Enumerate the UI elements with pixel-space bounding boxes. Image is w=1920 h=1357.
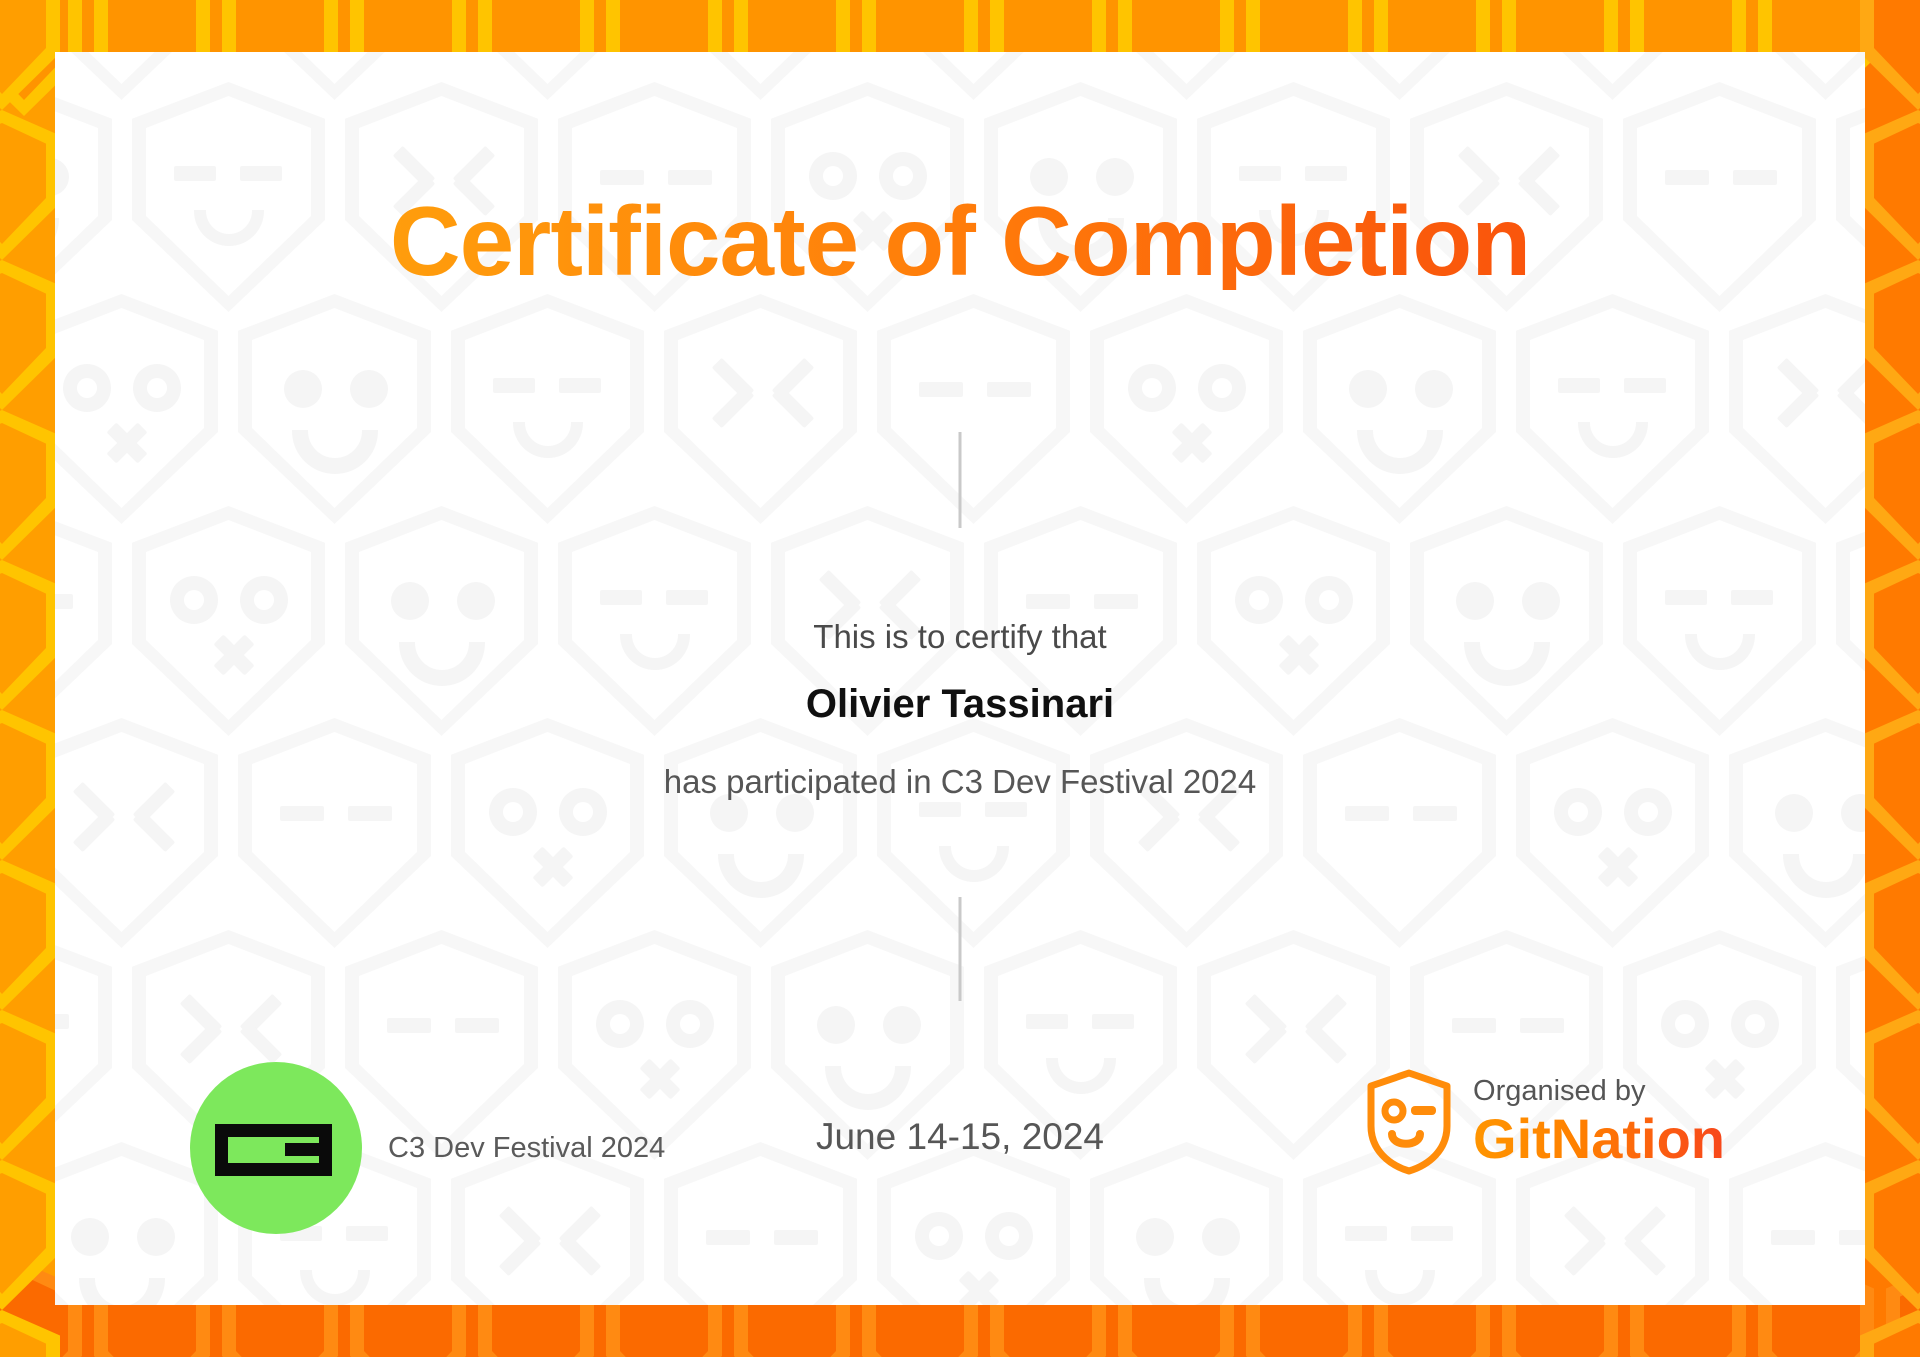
gitnation-wordmark: GitNation	[1473, 1110, 1725, 1169]
border-shield-motif	[1854, 1310, 1920, 1357]
gitnation-shield-icon	[1365, 1068, 1453, 1176]
participation-line: has participated in C3 Dev Festival 2024	[55, 763, 1865, 801]
recipient-name: Olivier Tassinari	[55, 682, 1865, 727]
certify-line: This is to certify that	[55, 618, 1865, 656]
border-shield-motif	[0, 1310, 66, 1357]
organiser-text: Organised by GitNation	[1473, 1076, 1725, 1169]
divider-top	[959, 432, 962, 528]
page-title: Certificate of Completion	[55, 192, 1865, 290]
certificate-card: Certificate of Completion This is to cer…	[55, 52, 1865, 1305]
organised-by-label: Organised by	[1473, 1076, 1725, 1108]
certificate-footer: C3 Dev Festival 2024 June 14-15, 2024 Or…	[55, 1062, 1865, 1232]
organiser-branding: Organised by GitNation	[1365, 1068, 1725, 1176]
divider-bottom	[959, 897, 962, 1001]
certificate-content: Certificate of Completion This is to cer…	[55, 52, 1865, 1305]
